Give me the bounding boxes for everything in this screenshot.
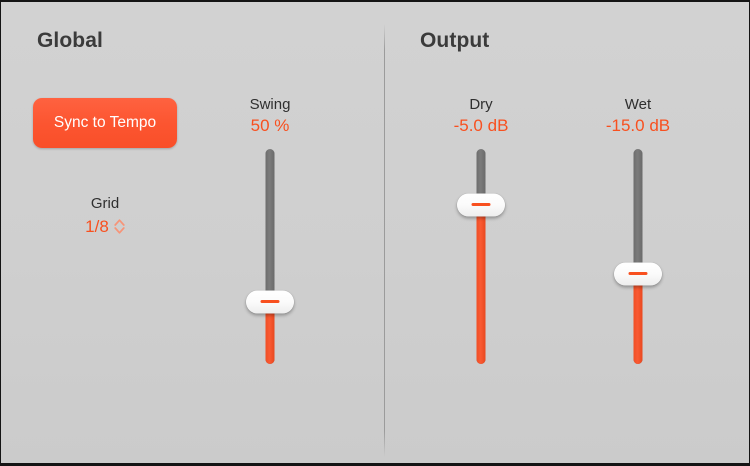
dry-header: Dry -5.0 dB	[421, 95, 541, 137]
plugin-panel: Global Sync to Tempo Grid 1/8 Swing 50 %	[0, 0, 750, 466]
grid-control: Grid 1/8	[41, 194, 169, 238]
swing-thumb[interactable]	[246, 290, 294, 313]
section-divider	[384, 24, 385, 457]
wet-value: -15.0 dB	[578, 114, 698, 137]
swing-value: 50 %	[210, 114, 330, 137]
wet-track-fill	[634, 274, 643, 364]
global-section-title: Global	[37, 29, 103, 53]
wet-slider-body[interactable]	[578, 149, 698, 364]
sync-to-tempo-button[interactable]: Sync to Tempo	[33, 98, 177, 148]
grid-label: Grid	[41, 194, 169, 213]
dry-slider-body[interactable]	[421, 149, 541, 364]
sync-to-tempo-label: Sync to Tempo	[54, 114, 156, 132]
dry-thumb[interactable]	[457, 193, 505, 216]
dry-value: -5.0 dB	[421, 114, 541, 137]
output-section-title: Output	[420, 29, 489, 53]
swing-slider: Swing 50 %	[210, 95, 330, 364]
chevron-down-icon[interactable]	[114, 227, 125, 234]
dry-track-fill	[477, 205, 486, 364]
swing-header: Swing 50 %	[210, 95, 330, 137]
swing-label: Swing	[210, 95, 330, 114]
swing-slider-body[interactable]	[210, 149, 330, 364]
grid-stepper[interactable]	[114, 219, 125, 234]
wet-slider: Wet -15.0 dB	[578, 95, 698, 364]
grid-value: 1/8	[85, 215, 109, 238]
grid-value-row: 1/8	[41, 215, 169, 238]
dry-label: Dry	[421, 95, 541, 114]
dry-slider: Dry -5.0 dB	[421, 95, 541, 364]
wet-label: Wet	[578, 95, 698, 114]
wet-header: Wet -15.0 dB	[578, 95, 698, 137]
chevron-up-icon[interactable]	[114, 219, 125, 226]
wet-thumb[interactable]	[614, 262, 662, 285]
